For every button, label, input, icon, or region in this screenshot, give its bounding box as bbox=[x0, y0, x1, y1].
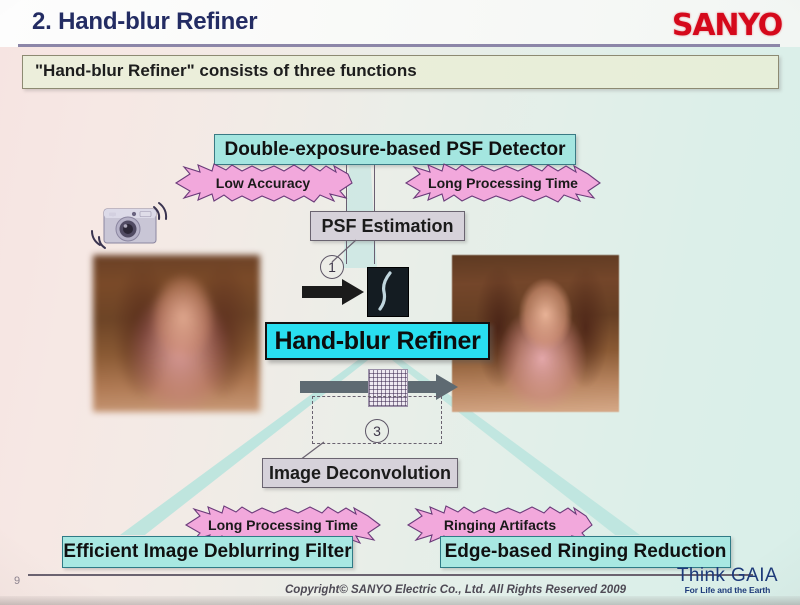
page-number: 9 bbox=[14, 575, 20, 587]
architecture-diagram: Double-exposure-based PSF Detector Low A… bbox=[0, 0, 800, 605]
callout-ringing-artifacts-label: Ringing Artifacts bbox=[444, 517, 556, 533]
psf-kernel-icon bbox=[367, 267, 409, 317]
think-gaia-brand: Think GAIA For Life and the Earth bbox=[677, 565, 778, 595]
box-efficient-image-deblurring-filter[interactable]: Efficient Image Deblurring Filter bbox=[62, 536, 353, 568]
guide-line-right bbox=[374, 148, 375, 264]
presentation-slide: 2. Hand-blur Refiner SANYO "Hand-blur Re… bbox=[0, 0, 800, 605]
box-image-deconvolution-label: Image Deconvolution bbox=[269, 463, 451, 484]
callout-long-processing-time-bottom-label: Long Processing Time bbox=[208, 517, 358, 533]
camera-icon bbox=[88, 193, 172, 257]
box-psf-estimation-label: PSF Estimation bbox=[321, 216, 453, 237]
callout-low-accuracy: Low Accuracy bbox=[168, 163, 358, 203]
step-marker-three: 3 bbox=[365, 419, 389, 443]
footer-divider bbox=[28, 574, 753, 576]
box-psf-detector-label: Double-exposure-based PSF Detector bbox=[224, 139, 565, 161]
step-marker-one: 1 bbox=[320, 255, 344, 279]
box-efficient-image-deblurring-filter-label: Efficient Image Deblurring Filter bbox=[63, 541, 351, 563]
box-image-deconvolution[interactable]: Image Deconvolution bbox=[262, 458, 458, 488]
think-gaia-tagline: For Life and the Earth bbox=[677, 585, 778, 595]
callout-low-accuracy-label: Low Accuracy bbox=[216, 175, 310, 191]
copyright-notice: Copyright© SANYO Electric Co., Ltd. All … bbox=[285, 584, 626, 596]
box-hand-blur-refiner-label: Hand-blur Refiner bbox=[274, 327, 480, 356]
step-marker-three-label: 3 bbox=[373, 423, 381, 439]
think-gaia-main: Think GAIA bbox=[677, 565, 778, 587]
callout-long-processing-time-top: Long Processing Time bbox=[398, 163, 608, 203]
box-edge-based-ringing-reduction[interactable]: Edge-based Ringing Reduction bbox=[440, 536, 731, 568]
box-hand-blur-refiner[interactable]: Hand-blur Refiner bbox=[265, 322, 490, 360]
box-edge-based-ringing-reduction-label: Edge-based Ringing Reduction bbox=[445, 541, 727, 563]
blurred-portrait-photo bbox=[93, 255, 260, 412]
arrow-blurred-to-kernel bbox=[302, 279, 366, 305]
box-psf-detector[interactable]: Double-exposure-based PSF Detector bbox=[214, 134, 576, 165]
box-psf-estimation[interactable]: PSF Estimation bbox=[310, 211, 465, 241]
callout-long-processing-time-top-label: Long Processing Time bbox=[428, 175, 578, 191]
step-marker-one-label: 1 bbox=[328, 259, 336, 275]
